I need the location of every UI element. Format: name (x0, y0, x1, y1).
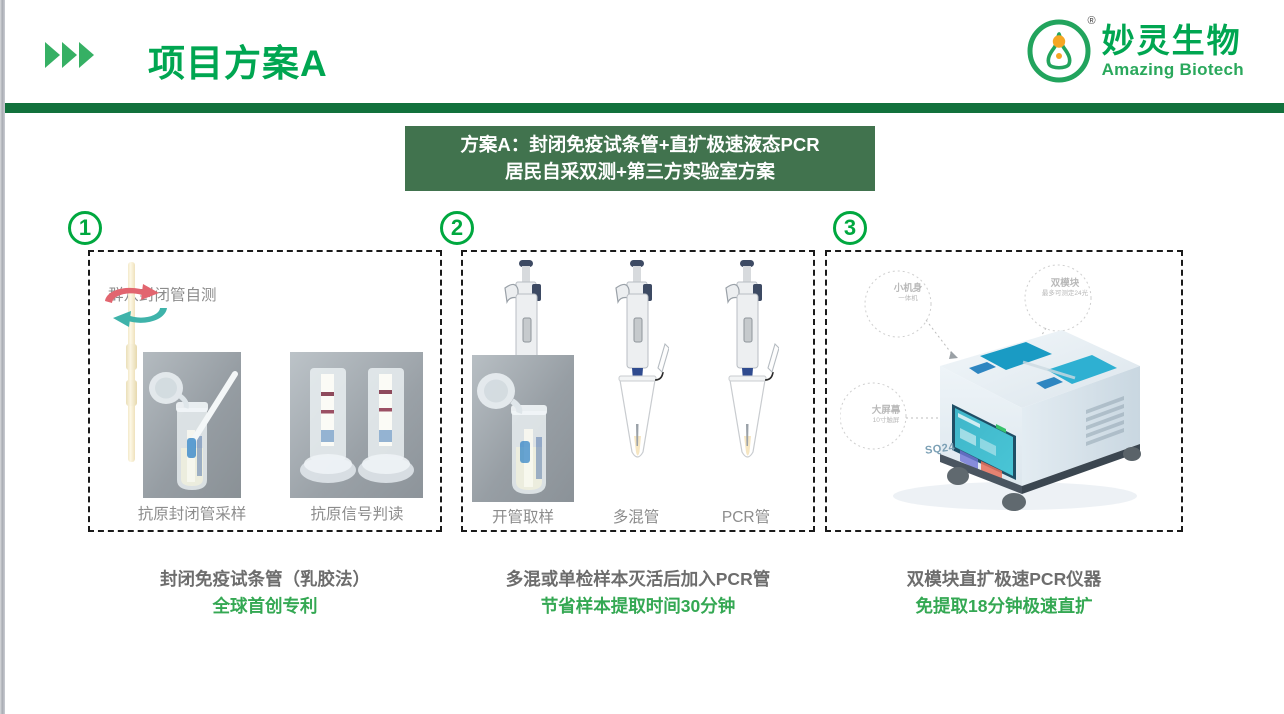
flask-in-circle-logo-icon: ® (1026, 18, 1092, 84)
company-logo: ® 妙灵生物 Amazing Biotech (1026, 18, 1244, 84)
slide-canvas: 项目方案A ® 妙灵生物 Amazing Biotech 方案A：封闭免疫试条管… (0, 0, 1284, 714)
step-number-1: 1 (68, 211, 102, 245)
step-2-footer-main: 多混或单检样本灭活后加入PCR管 (461, 566, 815, 593)
header-divider-rule (5, 103, 1284, 113)
step-number-3: 3 (833, 211, 867, 245)
step-number-2: 2 (440, 211, 474, 245)
step-1-item-2-caption: 抗原信号判读 (278, 502, 436, 524)
step-2-item-3-caption: PCR管 (688, 505, 804, 527)
chevron-3-icon (79, 42, 94, 68)
slide-header: 项目方案A ® 妙灵生物 Amazing Biotech (5, 0, 1284, 103)
chevron-2-icon (62, 42, 77, 68)
step-3-footer-main: 双模块直扩极速PCR仪器 (825, 566, 1183, 593)
sealed-tube-sampling-photo (143, 352, 241, 498)
triple-chevron-right-icon (45, 42, 94, 68)
logo-name-cn: 妙灵生物 (1102, 24, 1244, 57)
open-tube-pipetting-photo (472, 355, 574, 502)
step-3-footer-sub: 免提取18分钟极速直扩 (825, 593, 1183, 620)
step-2-item-2-caption: 多混管 (578, 505, 694, 527)
rotation-arrows-icon (97, 277, 177, 339)
step-1-footer-main: 封闭免疫试条管（乳胶法） (88, 566, 442, 593)
micropipette-2-icon (605, 256, 669, 506)
step-1-footer-sub: 全球首创专利 (88, 593, 442, 620)
step-2-item-1-caption: 开管取样 (465, 505, 581, 527)
swab-segment-2 (126, 380, 137, 406)
page-title: 项目方案A (148, 33, 328, 87)
micropipette-3-icon (715, 256, 779, 506)
logo-text-block: 妙灵生物 Amazing Biotech (1102, 24, 1244, 78)
scheme-banner: 方案A：封闭免疫试条管+直扩极速液态PCR 居民自采双测+第三方实验室方案 (405, 126, 875, 191)
step-1-item-1-caption: 抗原封闭管采样 (113, 502, 271, 524)
banner-line-2: 居民自采双测+第三方实验室方案 (505, 159, 775, 186)
banner-line-1: 方案A：封闭免疫试条管+直扩极速液态PCR (460, 132, 819, 159)
swab-segment-1 (126, 344, 137, 370)
step-1-footer: 封闭免疫试条管（乳胶法） 全球首创专利 (88, 566, 442, 620)
dual-module-pcr-instrument-photo (840, 258, 1168, 524)
logo-name-en: Amazing Biotech (1102, 61, 1244, 78)
step-3-footer: 双模块直扩极速PCR仪器 免提取18分钟极速直扩 (825, 566, 1183, 620)
chevron-1-icon (45, 42, 60, 68)
step-2-footer-sub: 节省样本提取时间30分钟 (461, 593, 815, 620)
antigen-strip-readout-photo (290, 352, 423, 498)
registered-mark: ® (1087, 16, 1095, 27)
step-2-footer: 多混或单检样本灭活后加入PCR管 节省样本提取时间30分钟 (461, 566, 815, 620)
